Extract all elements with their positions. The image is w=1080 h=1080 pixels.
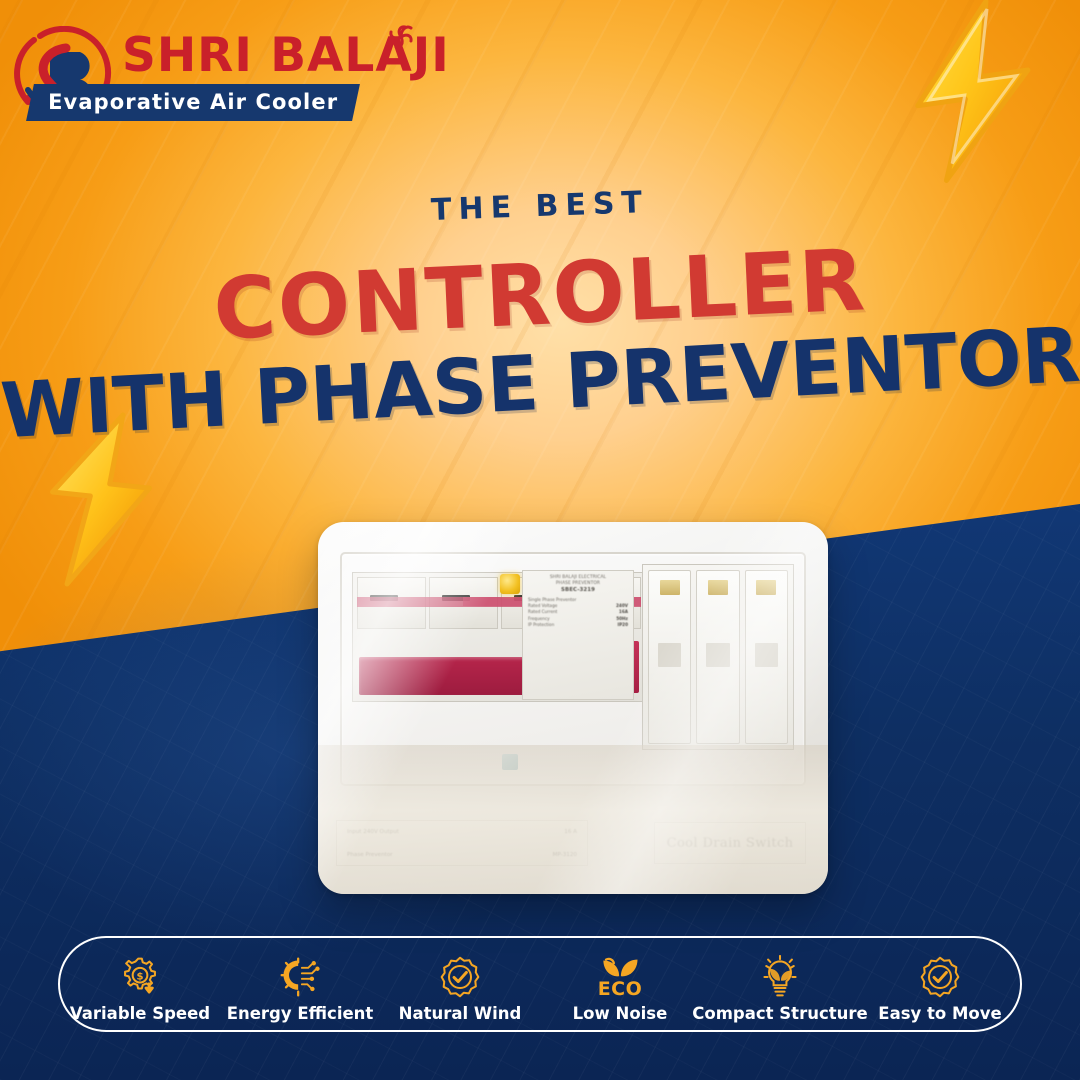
feature-label: Variable Speed — [70, 1004, 210, 1023]
gear-circuit-icon — [278, 955, 322, 999]
feature-item-compact-structure[interactable]: Compact Structure — [705, 945, 855, 1023]
lightbulb-leaf-icon — [758, 955, 802, 999]
gear-dollar-arrow-icon: $ — [118, 955, 162, 999]
eco-caption: ECO — [598, 980, 643, 999]
badge-check-icon — [438, 955, 482, 999]
feature-item-energy-efficient[interactable]: Energy Efficient — [225, 945, 375, 1023]
brand-tagline-banner: Evaporative Air Cooler — [26, 84, 360, 121]
feature-item-low-noise[interactable]: ECO Low Noise — [545, 945, 695, 1023]
feature-item-variable-speed[interactable]: $ Variable Speed — [65, 945, 215, 1023]
product-image: SHRI BALAJI ELECTRICAL PHASE PREVENTOR S… — [318, 522, 828, 894]
sun-swirl-icon — [384, 20, 418, 54]
feature-label: Easy to Move — [878, 1004, 1001, 1023]
svg-text:$: $ — [136, 971, 143, 982]
feature-label: Natural Wind — [399, 1004, 522, 1023]
headline-block: THE BEST CONTROLLER WITH PHASE PREVENTOR — [0, 175, 1080, 440]
headline-eyebrow: THE BEST — [430, 185, 649, 228]
brand-tagline: Evaporative Air Cooler — [48, 90, 338, 114]
feature-item-natural-wind[interactable]: Natural Wind — [385, 945, 535, 1023]
lightning-bolt-icon-top-right — [872, 0, 1072, 184]
feature-label: Energy Efficient — [227, 1004, 374, 1023]
feature-label: Compact Structure — [692, 1004, 867, 1023]
headline-eyebrow-wrap: THE BEST — [0, 169, 1080, 244]
product-plastic-wrap: SHRI BALAJI ELECTRICAL PHASE PREVENTOR S… — [318, 522, 828, 894]
feature-label: Low Noise — [573, 1004, 668, 1023]
product-wrap-sheen — [318, 522, 828, 894]
badge-check-icon — [918, 955, 962, 999]
feature-bar: $ Variable Speed — [58, 936, 1022, 1032]
brand-text-block: SHRI BALAJI — [122, 32, 450, 79]
feature-item-easy-to-move[interactable]: Easy to Move — [865, 945, 1015, 1023]
poster-canvas: SHRI BALAJI Evaporative Air Cooler — [0, 0, 1080, 1080]
eco-leaf-icon: ECO — [598, 955, 643, 999]
brand-logo: SHRI BALAJI Evaporative Air Cooler — [14, 22, 414, 134]
